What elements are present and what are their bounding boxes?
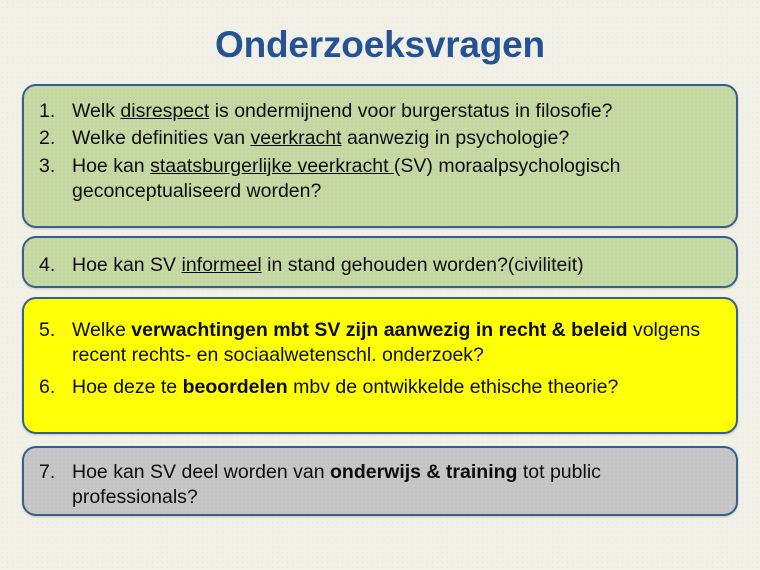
question-box-green-1: 1. Welk disrespect is ondermijnend voor … [22,84,738,228]
text-segment: is ondermijnend voor burgerstatus in fil… [209,100,612,122]
question-box-yellow: 5. Welke verwachtingen mbt SV zijn aanwe… [22,297,738,434]
text-segment-bold: verwachtingen mbt SV zijn aanwezig in re… [131,319,627,341]
text-segment: Welke [72,319,131,341]
item-text: Hoe kan staatsburgerlijke veerkracht (SV… [72,154,722,205]
text-segment: Hoe kan SV deel worden van [72,461,330,483]
question-box-gray: 7. Hoe kan SV deel worden van onderwijs … [22,446,738,516]
text-segment-underline: staatsburgerlijke veerkracht [150,155,394,177]
item-text: Hoe deze te beoordelen mbv de ontwikkeld… [72,375,722,400]
item-number: 3. [36,154,72,179]
question-box-green-2: 4. Hoe kan SV informeel in stand gehoude… [22,236,738,288]
text-segment: aanwezig in psychologie? [342,127,570,149]
item-number: 5. [36,318,72,343]
text-segment-underline: informeel [181,254,261,276]
question-list: 7. Hoe kan SV deel worden van onderwijs … [36,454,722,512]
text-segment: in stand gehouden worden?(civiliteit) [262,254,584,276]
list-item: 6. Hoe deze te beoordelen mbv de ontwikk… [36,372,722,403]
text-segment-underline: veerkracht [250,127,341,149]
question-list: 5. Welke verwachtingen mbt SV zijn aanwe… [36,305,722,403]
item-text: Hoe kan SV informeel in stand gehouden w… [72,253,722,278]
text-segment: Hoe deze te [72,376,183,398]
item-text: Welke definities van veerkracht aanwezig… [72,126,722,151]
list-item: 4. Hoe kan SV informeel in stand gehoude… [36,252,722,279]
item-text: Welke verwachtingen mbt SV zijn aanwezig… [72,318,722,369]
list-item: 1. Welk disrespect is ondermijnend voor … [36,98,722,125]
list-item: 7. Hoe kan SV deel worden van onderwijs … [36,459,722,512]
list-item: 5. Welke verwachtingen mbt SV zijn aanwe… [36,315,722,372]
text-segment: Hoe kan SV [72,254,181,276]
item-number: 4. [36,253,72,278]
text-segment: mbv de ontwikkelde ethische theorie? [288,376,619,398]
slide: Onderzoeksvragen 1. Welk disrespect is o… [0,0,760,570]
text-segment-bold: onderwijs & training [330,461,517,483]
question-list: 4. Hoe kan SV informeel in stand gehoude… [36,244,722,279]
item-text: Welk disrespect is ondermijnend voor bur… [72,99,722,124]
text-segment-bold: beoordelen [183,376,288,398]
text-segment: Welk [72,100,120,122]
text-segment-underline: disrespect [120,100,209,122]
list-item: 3. Hoe kan staatsburgerlijke veerkracht … [36,153,722,206]
item-number: 7. [36,460,72,485]
question-list: 1. Welk disrespect is ondermijnend voor … [36,92,722,205]
list-item: 2. Welke definities van veerkracht aanwe… [36,125,722,152]
text-segment: Welke definities van [72,127,250,149]
item-number: 6. [36,375,72,400]
text-segment: Hoe kan [72,155,150,177]
item-number: 2. [36,126,72,151]
item-number: 1. [36,99,72,124]
page-title: Onderzoeksvragen [0,24,760,66]
item-text: Hoe kan SV deel worden van onderwijs & t… [72,460,722,511]
